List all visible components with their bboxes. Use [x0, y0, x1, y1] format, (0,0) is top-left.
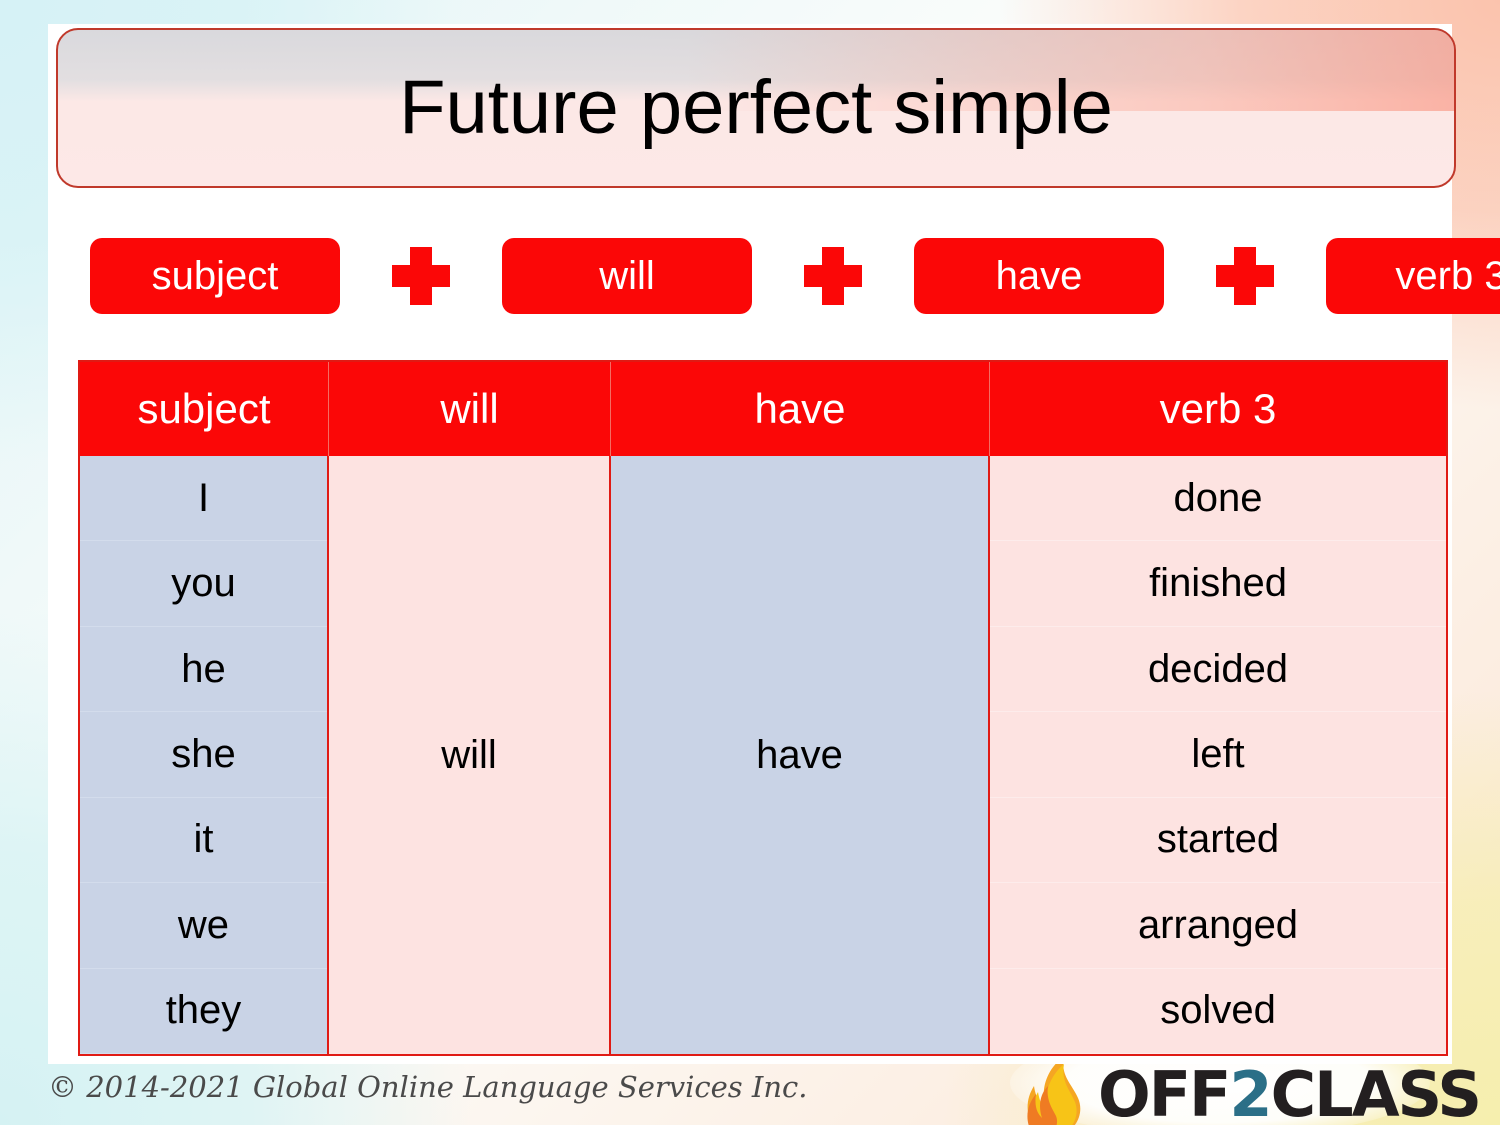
table-column-subject: I you he she it we they: [80, 456, 329, 1054]
formula-pill-subject: subject: [90, 238, 340, 314]
table-column-verb3: done finished decided left started arran…: [990, 456, 1446, 1054]
table-body: I you he she it we they will have done f…: [80, 456, 1446, 1054]
table-cell-subject: she: [80, 712, 327, 797]
title-plate: Future perfect simple: [56, 28, 1456, 188]
logo-two: 2: [1229, 1058, 1270, 1125]
formula-pill-will: will: [502, 238, 752, 314]
table-header-row: subject will have verb 3: [80, 362, 1446, 456]
logo-off: OFF: [1098, 1058, 1229, 1125]
table-cell-subject: it: [80, 798, 327, 883]
table-cell-verb3: done: [990, 456, 1446, 541]
table-cell-subject: we: [80, 883, 327, 968]
table-cell-verb3: solved: [990, 969, 1446, 1054]
formula-row: subject will have verb 3: [90, 234, 1420, 318]
table-header-verb3: verb 3: [990, 362, 1446, 456]
formula-pill-have: have: [914, 238, 1164, 314]
table-column-have: have: [611, 456, 990, 1054]
copyright-notice: © 2014-2021 Global Online Language Servi…: [48, 1070, 808, 1104]
table-cell-verb3: left: [990, 712, 1446, 797]
table-header-will: will: [329, 362, 611, 456]
table-header-have: have: [611, 362, 990, 456]
table-cell-will: will: [329, 456, 609, 1054]
table-column-will: will: [329, 456, 611, 1054]
page-title: Future perfect simple: [58, 30, 1454, 186]
logo-wordmark: OFF2CLASS: [1098, 1064, 1480, 1125]
slide-canvas: OFF2CLASS Future perfect simple subject …: [0, 0, 1500, 1125]
table-header-subject: subject: [80, 362, 329, 456]
logo-class: CLASS: [1271, 1058, 1481, 1125]
plus-icon: [392, 247, 450, 305]
table-cell-have: have: [611, 456, 988, 1054]
table-cell-subject: you: [80, 541, 327, 626]
table-cell-verb3: finished: [990, 541, 1446, 626]
plus-icon: [1216, 247, 1274, 305]
table-cell-subject: they: [80, 969, 327, 1054]
table-cell-verb3: decided: [990, 627, 1446, 712]
conjugation-table: subject will have verb 3 I you he she it…: [78, 360, 1448, 1056]
table-cell-subject: I: [80, 456, 327, 541]
table-cell-verb3: arranged: [990, 883, 1446, 968]
formula-pill-verb3: verb 3: [1326, 238, 1500, 314]
table-cell-subject: he: [80, 627, 327, 712]
table-cell-verb3: started: [990, 798, 1446, 883]
plus-icon: [804, 247, 862, 305]
